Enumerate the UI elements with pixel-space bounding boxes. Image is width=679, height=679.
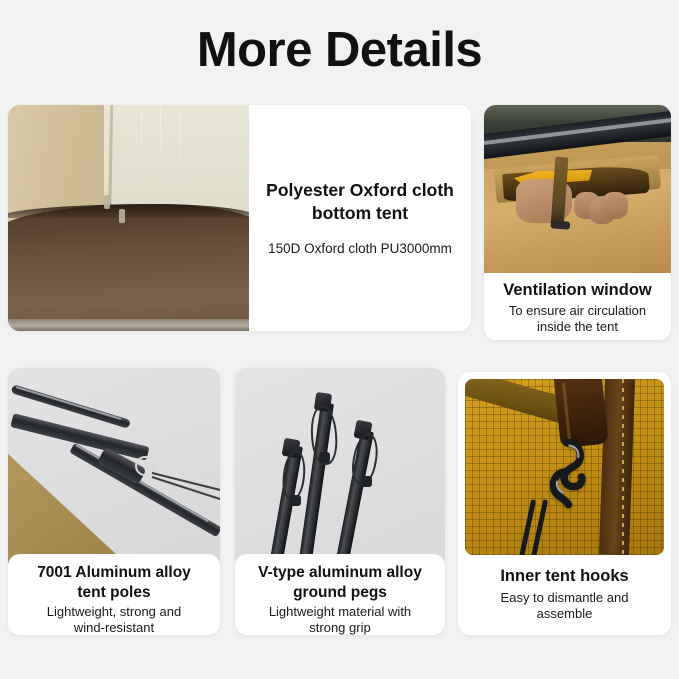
tent-interior-photo [8,105,249,331]
subtitle-line-2: assemble [537,606,593,621]
title-line-2: bottom tent [312,203,408,223]
title-line-1: Polyester Oxford cloth [266,180,454,200]
tent-pole-photo [8,368,220,564]
fabric-fold [160,107,161,184]
card-inner-tent-hooks-title: Inner tent hooks [458,566,671,587]
fabric-fold [179,112,180,189]
peg-cord-knot [319,452,330,463]
subtitle-line-2: wind-resistant [74,620,154,635]
title-line-1: 7001 Aluminum alloy [37,564,191,581]
subtitle-line-1: Lightweight material with [269,604,411,619]
tent-pole-illustration [8,368,220,564]
ventilation-illustration [484,105,671,273]
subtitle-line-1: To ensure air circulation [509,303,646,318]
title-line-2: tent poles [77,584,150,601]
card-ventilation-window[interactable]: Ventilation window To ensure air circula… [484,105,671,340]
page-title: More Details [0,20,679,80]
card-bottom-tent[interactable]: Polyester Oxford cloth bottom tent 150D … [8,105,471,331]
title-line-2: ground pegs [293,584,387,601]
card-inner-tent-hooks-text: Inner tent hooks Easy to dismantle and a… [458,555,671,635]
subtitle-line-2: strong grip [309,620,370,635]
card-inner-tent-hooks-subtitle: Easy to dismantle and assemble [458,590,671,622]
seam-stitching [622,379,624,555]
subtitle-line-1: Easy to dismantle and [501,590,629,605]
card-ground-pegs-subtitle: Lightweight material with strong grip [235,604,445,635]
card-bottom-tent-text: Polyester Oxford cloth bottom tent 150D … [249,105,471,331]
peg-cord-knot [361,476,372,487]
product-detail-page: More Details Polyester Oxford cloth bott… [0,0,679,679]
card-ground-pegs-title: V-type aluminum alloy ground pegs [235,563,445,603]
card-bottom-tent-title: Polyester Oxford cloth bottom tent [266,179,454,225]
card-ventilation-subtitle: To ensure air circulation inside the ten… [484,303,671,335]
ground-pegs-photo [235,368,445,564]
subtitle-line-1: Lightweight, strong and [47,604,181,619]
title-line-1: V-type aluminum alloy [258,564,422,581]
peg-cord-loop [281,449,308,501]
card-ventilation-text: Ventilation window To ensure air circula… [484,273,671,340]
card-tent-poles-text: 7001 Aluminum alloy tent poles Lightweig… [8,554,220,635]
card-bottom-tent-subtitle: 150D Oxford cloth PU3000mm [268,240,452,258]
tent-floor [8,204,249,331]
ventilation-window-photo [484,105,671,273]
card-ground-pegs-text: V-type aluminum alloy ground pegs Lightw… [235,554,445,635]
subtitle-line-2: inside the tent [537,319,618,334]
tent-clip-icon [104,195,110,209]
card-tent-poles[interactable]: 7001 Aluminum alloy tent poles Lightweig… [8,368,220,635]
ground-pegs-illustration [235,368,445,564]
card-tent-poles-subtitle: Lightweight, strong and wind-resistant [8,604,220,635]
webbing-strap [553,379,608,448]
zipper-pull-icon [551,220,570,230]
pole-highlight [16,386,122,420]
tent-interior-illustration [8,105,249,331]
tent-clip-icon [119,209,125,223]
card-ventilation-title: Ventilation window [484,280,671,301]
inner-tent-hook-illustration [465,379,664,555]
finger [602,192,628,219]
fabric-fold [141,110,142,187]
card-inner-tent-hooks[interactable]: Inner tent hooks Easy to dismantle and a… [458,372,671,635]
card-ground-pegs[interactable]: V-type aluminum alloy ground pegs Lightw… [235,368,445,635]
card-tent-poles-title: 7001 Aluminum alloy tent poles [8,563,220,603]
peg-cord-knot [290,495,301,506]
inner-tent-hook-photo [465,379,664,555]
tent-base-strip [8,319,249,331]
